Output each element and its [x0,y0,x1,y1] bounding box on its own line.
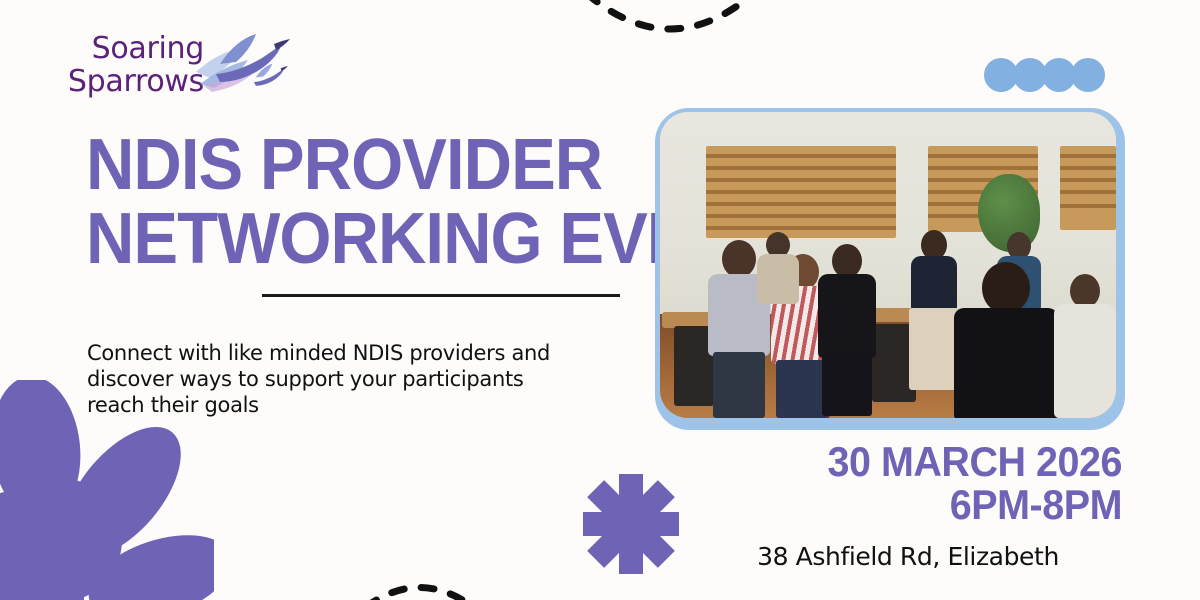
person-woman-black-top [816,244,878,416]
decorative-dots [984,58,1106,92]
event-address: 38 Ashfield Rd, Elizabeth [702,542,1122,571]
dot-2 [1013,58,1047,92]
event-flyer: Soaring Sparrows NDIS PROVIDER NETWORKIN… [0,0,1200,600]
headline-divider [262,294,620,297]
photo-scene [660,112,1116,418]
page-title: NDIS PROVIDER NETWORKING EVENT [86,128,646,276]
person-head [832,244,862,278]
event-description: Connect with like minded NDIS providers … [87,340,587,418]
person-head [1070,274,1100,308]
wall-slat-panel-left [706,146,896,238]
person-torso [1054,304,1116,418]
dashed-curve-top-icon [520,0,820,82]
sparrow-bird-icon [190,26,292,106]
event-time: 6PM-8PM [727,483,1122,526]
person-background-left [756,232,800,302]
person-head [982,262,1030,314]
dot-1 [984,58,1018,92]
asterisk-icon [583,472,679,576]
person-foreground-black-tshirt [952,262,1060,418]
dashed-curve-bottom-icon [300,528,540,600]
logo-word-line-2: Sparrows [32,65,204,98]
brand-logo: Soaring Sparrows [32,26,292,108]
logo-wordmark: Soaring Sparrows [32,32,204,98]
person-legs [713,352,765,418]
dot-3 [1042,58,1076,92]
dot-4 [1071,58,1105,92]
headline-line-1: NDIS PROVIDER [86,128,607,202]
person-torso [818,274,876,358]
wall-slat-panel-far-right [1060,146,1116,230]
person-torso [954,308,1058,418]
event-details: 30 MARCH 2026 6PM-8PM 38 Ashfield Rd, El… [702,440,1122,571]
person-right-seated [1052,274,1116,418]
headline-line-2: NETWORKING EVENT [86,202,607,276]
person-head [722,240,756,278]
person-legs [822,354,872,416]
person-torso [757,254,799,304]
event-photo [660,112,1116,418]
person-torso [911,256,957,312]
event-date: 30 MARCH 2026 [727,440,1122,483]
logo-word-line-1: Soaring [32,32,204,65]
